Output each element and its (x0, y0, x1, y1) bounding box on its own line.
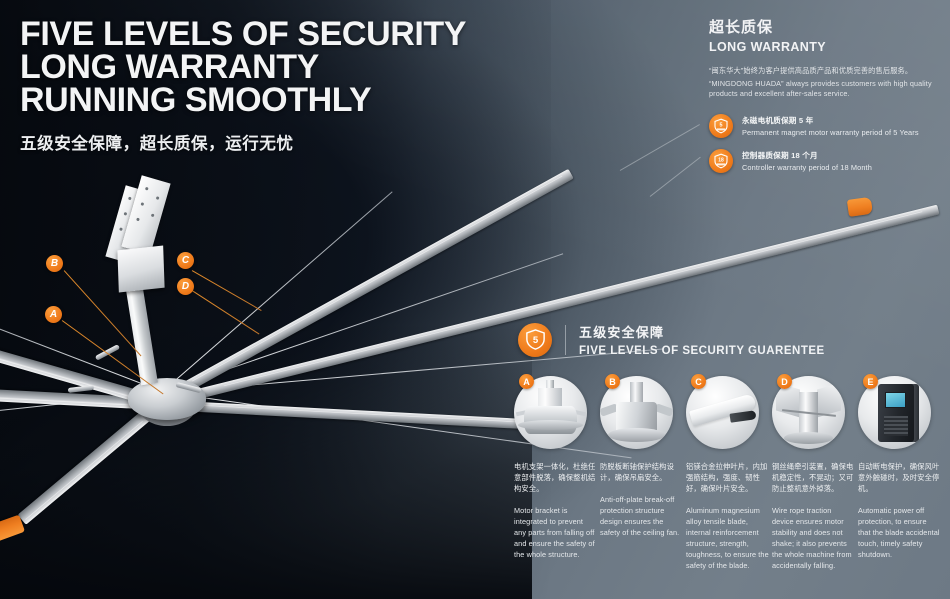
callout-marker-d-label: D (182, 281, 189, 292)
card-letter-badge: B (605, 374, 620, 389)
warranty-item-label-en: Controller warranty period of 18 Month (742, 163, 872, 172)
headline-line-2: LONG WARRANTY (20, 51, 490, 84)
headline-line-3: RUNNING SMOOTHLY (20, 84, 490, 117)
callout-marker-a-label: A (50, 309, 57, 320)
card-text-cn: 电机支架一体化，杜绝任意部件脱落，确保整机结构安全。 (514, 461, 597, 494)
card-text-en: Anti-off-plate break-off protection stru… (600, 494, 683, 538)
five-levels-title-cn: 五级安全保障 (579, 322, 825, 341)
header-divider (565, 325, 566, 355)
shield-five-icon: 5 (518, 323, 552, 357)
card-letter-badge: A (519, 374, 534, 389)
infographic-stage: A B C D FIVE LEVELS OF SECURITY LONG WAR… (0, 0, 950, 599)
card-text-en: Wire rope traction device ensures motor … (772, 505, 855, 571)
warranty-item: 5 永磁电机质保期 5 年 Permanent magnet motor war… (709, 114, 941, 138)
bracket-housing (117, 246, 164, 293)
feature-card[interactable]: D 钢丝绳牵引装置，确保电机稳定性，不晃动；又可防止整机意外掉落。 Wire r… (772, 376, 855, 571)
svg-text:5: 5 (720, 122, 723, 128)
warranty-item-label-cn: 控制器质保期 18 个月 (742, 150, 872, 161)
warranty-item-label-cn: 永磁电机质保期 5 年 (742, 115, 919, 126)
fan-hub (128, 378, 206, 420)
warranty-item: 18 控制器质保期 18 个月 Controller warranty peri… (709, 149, 941, 173)
callout-marker-b[interactable]: B (46, 255, 63, 272)
warranty-title-en: LONG WARRANTY (709, 40, 941, 54)
five-levels-header: 5 五级安全保障 FIVE LEVELS OF SECURITY GUARENT… (518, 322, 825, 357)
svg-text:5: 5 (532, 335, 538, 346)
feature-card[interactable]: A 电机支架一体化，杜绝任意部件脱落，确保整机结构安全。 Motor brack… (514, 376, 597, 571)
card-text-en: Motor bracket is integrated to prevent a… (514, 505, 597, 560)
shield-badge-icon: 5 (709, 114, 733, 138)
warranty-description-cn: “闽东华大”始终为客户提供高品质产品和优质完善的售后服务。 (709, 66, 941, 77)
card-letter-badge: D (777, 374, 792, 389)
svg-text:18: 18 (718, 157, 724, 163)
card-text-cn: 钢丝绳牵引装置，确保电机稳定性，不晃动；又可防止整机意外掉落。 (772, 461, 855, 494)
headline-line-1: FIVE LEVELS OF SECURITY (20, 18, 490, 51)
callout-marker-b-label: B (51, 258, 58, 269)
card-text-cn: 防脱板断轴保护结构设计，确保吊扇安全。 (600, 461, 683, 483)
callout-marker-c[interactable]: C (177, 252, 194, 269)
feature-card[interactable]: E 自动断电保护，确保风叶意外触碰时，及时安全停机。 Automatic pow… (858, 376, 941, 571)
shield-badge-icon: 18 (709, 149, 733, 173)
feature-card[interactable]: B 防脱板断轴保护结构设计，确保吊扇安全。 Anti-off-plate bre… (600, 376, 683, 571)
card-text-en: Aluminum magnesium alloy tensile blade, … (686, 505, 769, 571)
turnbuckle-hardware (68, 385, 94, 393)
callout-marker-a[interactable]: A (45, 306, 62, 323)
long-warranty-block: 超长质保 LONG WARRANTY “闽东华大”始终为客户提供高品质产品和优质… (709, 16, 941, 184)
card-text-en: Automatic power off protection, to ensur… (858, 505, 941, 560)
headline-block: FIVE LEVELS OF SECURITY LONG WARRANTY RU… (20, 18, 490, 154)
feature-card[interactable]: C 铝镁合金拉伸叶片，内加强筋结构，强度、韧性好，确保叶片安全。 Aluminu… (686, 376, 769, 571)
warranty-description-en: “MINGDONG HUADA” always provides custome… (709, 79, 941, 100)
warranty-title-cn: 超长质保 (709, 16, 941, 37)
five-levels-title-en: FIVE LEVELS OF SECURITY GUARENTEE (579, 345, 825, 357)
fan-blade-tip (847, 197, 873, 217)
callout-marker-c-label: C (182, 255, 189, 266)
card-letter-badge: C (691, 374, 706, 389)
feature-card-list: A 电机支架一体化，杜绝任意部件脱落，确保整机结构安全。 Motor brack… (514, 376, 946, 571)
callout-marker-d[interactable]: D (177, 278, 194, 295)
warranty-item-label-en: Permanent magnet motor warranty period o… (742, 128, 919, 137)
warranty-item-list: 5 永磁电机质保期 5 年 Permanent magnet motor war… (709, 114, 941, 173)
card-text-cn: 铝镁合金拉伸叶片，内加强筋结构，强度、韧性好，确保叶片安全。 (686, 461, 769, 494)
card-letter-badge: E (863, 374, 878, 389)
card-text-cn: 自动断电保护，确保风叶意外触碰时，及时安全停机。 (858, 461, 941, 494)
headline-subtitle-cn: 五级安全保障，超长质保，运行无忧 (20, 130, 490, 154)
fan-blade (18, 406, 157, 525)
